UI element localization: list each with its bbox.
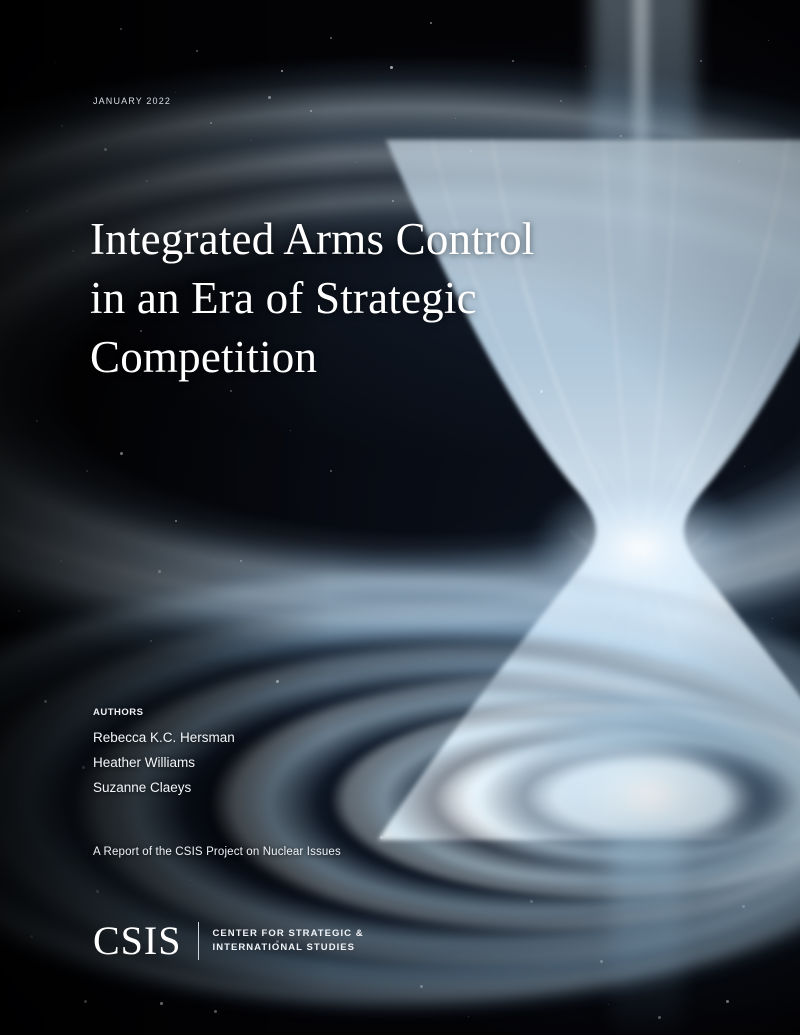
title-line-1: Integrated Arms Control xyxy=(90,210,630,269)
csis-name-line-1: CENTER FOR STRATEGIC & xyxy=(213,927,364,941)
csis-logo: CSIS CENTER FOR STRATEGIC & INTERNATIONA… xyxy=(93,921,364,961)
publication-date: JANUARY 2022 xyxy=(93,96,171,106)
title-line-2: in an Era of Strategic xyxy=(90,269,630,328)
author-name: Suzanne Claeys xyxy=(93,775,235,800)
logo-divider xyxy=(198,922,199,960)
authors-heading: AUTHORS xyxy=(93,707,235,718)
csis-wordmark: CSIS xyxy=(93,921,182,961)
cover-content: JANUARY 2022 Integrated Arms Control in … xyxy=(0,0,800,1035)
csis-name-line-2: INTERNATIONAL STUDIES xyxy=(213,941,364,955)
authors-block: AUTHORS Rebecca K.C. Hersman Heather Wil… xyxy=(93,707,235,800)
title-line-3: Competition xyxy=(90,328,630,387)
csis-full-name: CENTER FOR STRATEGIC & INTERNATIONAL STU… xyxy=(213,927,364,955)
report-series-line: A Report of the CSIS Project on Nuclear … xyxy=(93,846,341,858)
author-name: Heather Williams xyxy=(93,750,235,775)
page-title: Integrated Arms Control in an Era of Str… xyxy=(90,210,630,387)
report-cover: JANUARY 2022 Integrated Arms Control in … xyxy=(0,0,800,1035)
author-name: Rebecca K.C. Hersman xyxy=(93,725,235,750)
